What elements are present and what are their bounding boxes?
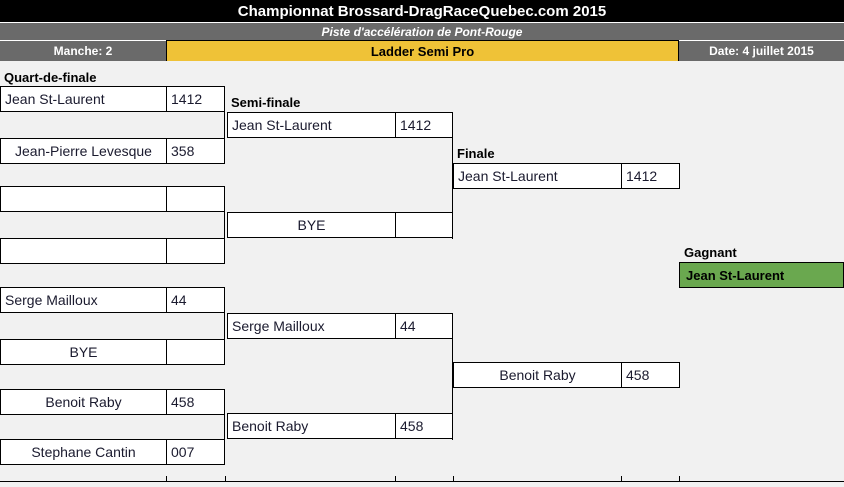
qf-4-number[interactable] <box>166 238 225 264</box>
sf-4-number[interactable]: 458 <box>395 413 453 439</box>
qf-7-number[interactable]: 458 <box>166 389 225 415</box>
label-quart-de-finale: Quart-de-finale <box>4 70 96 85</box>
connector-qf1-qf2 <box>224 86 225 164</box>
connector-qf3-qf4 <box>224 186 225 264</box>
header-info-row: Manche: 2 Ladder Semi Pro Date: 4 juille… <box>0 40 844 61</box>
final-1-number[interactable]: 1412 <box>621 163 680 189</box>
bracket-page: Championnat Brossard-DragRaceQuebec.com … <box>0 0 844 487</box>
event-date-badge: Date: 4 juillet 2015 <box>679 40 844 61</box>
qf-8-name[interactable]: Stephane Cantin <box>0 439 167 465</box>
ladder-class-title: Ladder Semi Pro <box>166 40 679 61</box>
bottom-tick-2 <box>225 476 226 481</box>
qf-4-name[interactable] <box>0 238 167 264</box>
qf-2-name[interactable]: Jean-Pierre Levesque <box>0 138 167 164</box>
bottom-tick-6 <box>679 476 680 481</box>
round-number-badge: Manche: 2 <box>0 40 166 61</box>
bottom-tick-5 <box>621 476 622 481</box>
bottom-tick-3 <box>395 476 396 481</box>
venue-subtitle: Piste d'accélération de Pont-Rouge <box>0 22 844 40</box>
qf-6-name[interactable]: BYE <box>0 339 167 365</box>
final-1-name[interactable]: Jean St-Laurent <box>453 163 622 189</box>
qf-1-number[interactable]: 1412 <box>166 86 225 112</box>
qf-8-number[interactable]: 007 <box>166 439 225 465</box>
connector-qf5-qf6 <box>224 287 225 365</box>
qf-2-number[interactable]: 358 <box>166 138 225 164</box>
connector-qf7-qf8 <box>224 389 225 465</box>
qf-1-name[interactable]: Jean St-Laurent <box>0 86 167 112</box>
sf-2-number[interactable] <box>395 212 453 238</box>
label-gagnant: Gagnant <box>684 245 737 260</box>
sf-3-name[interactable]: Serge Mailloux <box>227 313 396 339</box>
sf-2-name[interactable]: BYE <box>227 212 396 238</box>
bottom-tick-4 <box>453 476 454 481</box>
final-2-name[interactable]: Benoit Raby <box>453 362 622 388</box>
final-2-number[interactable]: 458 <box>621 362 680 388</box>
sf-4-name[interactable]: Benoit Raby <box>227 413 396 439</box>
bottom-tick-1 <box>166 476 167 481</box>
qf-3-number[interactable] <box>166 186 225 212</box>
bottom-rule <box>0 481 844 482</box>
championship-title: Championnat Brossard-DragRaceQuebec.com … <box>0 0 844 22</box>
sf-3-number[interactable]: 44 <box>395 313 453 339</box>
qf-5-number[interactable]: 44 <box>166 287 225 313</box>
sf-1-name[interactable]: Jean St-Laurent <box>227 112 396 138</box>
qf-3-name[interactable] <box>0 186 167 212</box>
label-semi-finale: Semi-finale <box>231 95 300 110</box>
label-finale: Finale <box>457 146 495 161</box>
qf-6-number[interactable] <box>166 339 225 365</box>
sf-1-number[interactable]: 1412 <box>395 112 453 138</box>
qf-7-name[interactable]: Benoit Raby <box>0 389 167 415</box>
winner-name: Jean St-Laurent <box>679 262 844 288</box>
qf-5-name[interactable]: Serge Mailloux <box>0 287 167 313</box>
